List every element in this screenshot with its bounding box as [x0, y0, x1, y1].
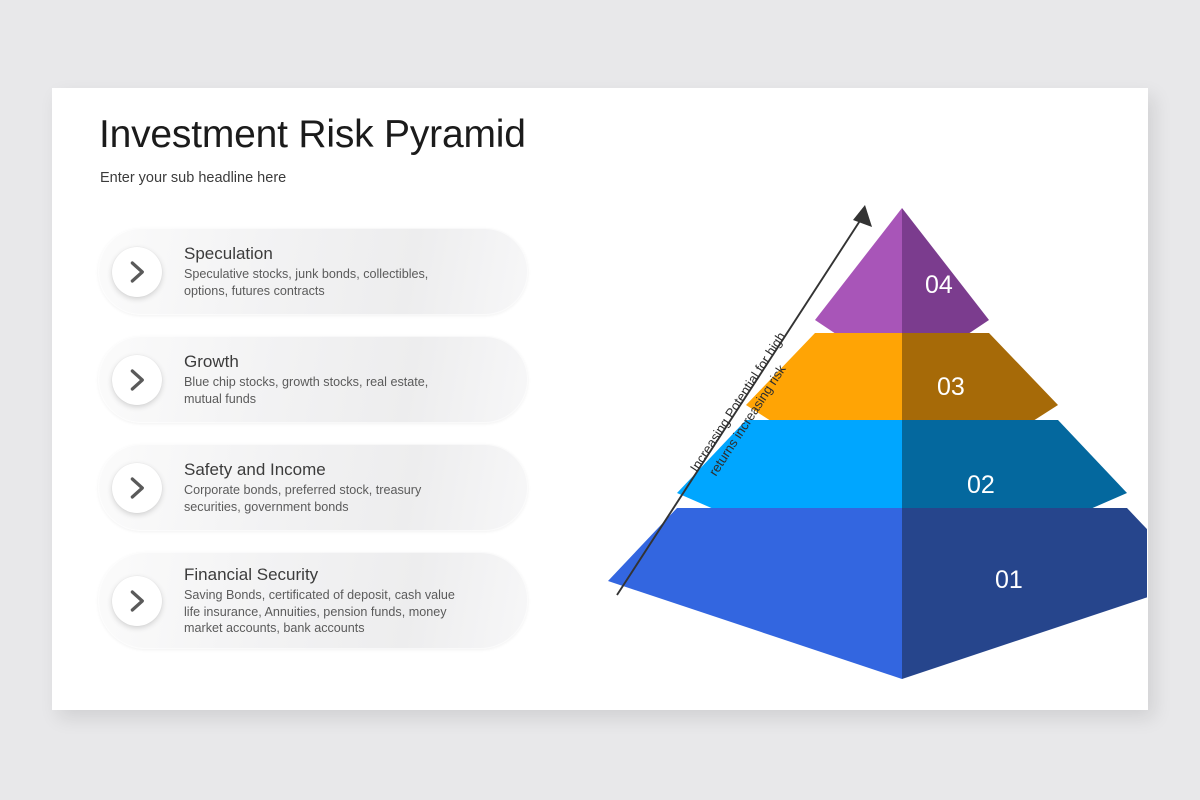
pyramid-level-02-number: 02 [967, 471, 995, 499]
list-item-financial-security[interactable]: Financial Security Saving Bonds, certifi… [98, 552, 528, 649]
list-item-description: Saving Bonds, certificated of deposit, c… [184, 587, 516, 637]
chevron-right-icon[interactable] [112, 463, 162, 513]
list-item-safety-and-income[interactable]: Safety and Income Corporate bonds, prefe… [98, 444, 528, 531]
list-item-title: Speculation [184, 244, 516, 264]
list-item-text: Growth Blue chip stocks, growth stocks, … [184, 352, 516, 408]
slide-card: Investment Risk Pyramid Enter your sub h… [52, 88, 1148, 710]
list-item-text: Financial Security Saving Bonds, certifi… [184, 564, 516, 636]
pyramid-level-01-number: 01 [995, 566, 1023, 594]
list-item-description: Speculative stocks, junk bonds, collecti… [184, 266, 516, 299]
investment-risk-pyramid-chart: 04 03 02 01 Increasing Potential for hig… [547, 183, 1147, 703]
pyramid-level-04-number: 04 [925, 271, 953, 299]
pyramid-level-01-right-face[interactable] [902, 508, 1147, 679]
page-title: Investment Risk Pyramid [99, 113, 526, 157]
list-item-description: Blue chip stocks, growth stocks, real es… [184, 374, 516, 407]
chevron-right-icon[interactable] [112, 576, 162, 626]
chevron-right-icon[interactable] [112, 247, 162, 297]
risk-level-list: Speculation Speculative stocks, junk bon… [98, 228, 536, 670]
list-item-text: Speculation Speculative stocks, junk bon… [184, 244, 516, 300]
list-item-title: Growth [184, 352, 516, 372]
pyramid-level-03-number: 03 [937, 373, 965, 401]
chevron-right-icon[interactable] [112, 355, 162, 405]
page-subtitle: Enter your sub headline here [100, 170, 286, 186]
list-item-description: Corporate bonds, preferred stock, treasu… [184, 482, 516, 515]
list-item-growth[interactable]: Growth Blue chip stocks, growth stocks, … [98, 336, 528, 423]
list-item-text: Safety and Income Corporate bonds, prefe… [184, 460, 516, 516]
list-item-title: Financial Security [184, 564, 516, 584]
pyramid-level-01-left-face[interactable] [608, 508, 902, 679]
list-item-speculation[interactable]: Speculation Speculative stocks, junk bon… [98, 228, 528, 315]
list-item-title: Safety and Income [184, 460, 516, 480]
